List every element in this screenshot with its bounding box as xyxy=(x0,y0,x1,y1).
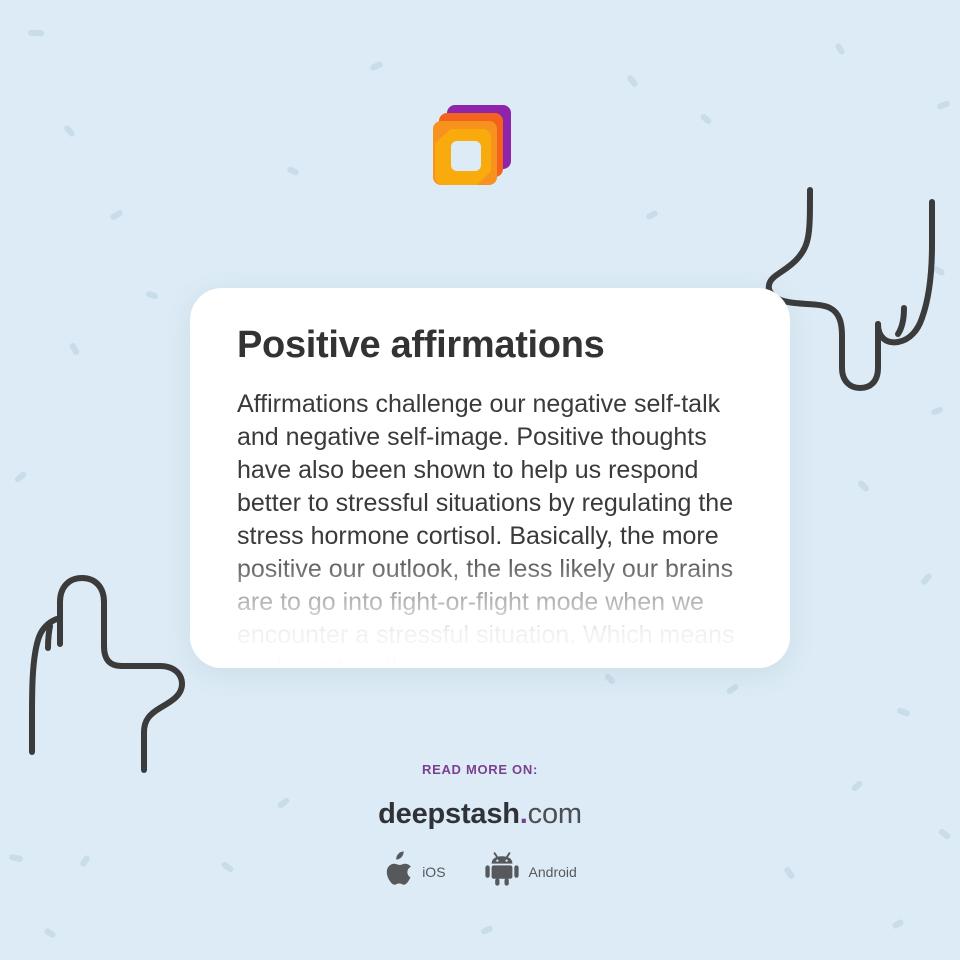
confetti-speck xyxy=(69,342,81,356)
confetti-speck xyxy=(145,290,158,299)
confetti-speck xyxy=(932,265,945,276)
ios-store-badge[interactable]: iOS xyxy=(383,851,445,892)
story-card-content: Positive affirmations Affirmations chall… xyxy=(190,288,790,668)
story-card[interactable]: Positive affirmations Affirmations chall… xyxy=(190,288,790,668)
footer: READ MORE ON: deepstash.com iOS xyxy=(0,762,960,892)
confetti-speck xyxy=(645,210,658,221)
wordmark-tld: com xyxy=(528,798,582,830)
confetti-speck xyxy=(891,918,904,929)
confetti-speck xyxy=(480,925,493,935)
android-store-badge[interactable]: Android xyxy=(484,851,577,892)
confetti-speck xyxy=(699,113,712,125)
android-store-label: Android xyxy=(529,864,577,880)
confetti-speck xyxy=(930,406,943,416)
story-body-text: Affirmations challenge our negative self… xyxy=(237,388,748,668)
android-icon xyxy=(484,851,520,892)
confetti-speck xyxy=(63,124,76,138)
canvas: Positive affirmations Affirmations chall… xyxy=(0,0,960,960)
confetti-speck xyxy=(936,100,950,110)
confetti-speck xyxy=(626,74,639,88)
pointing-up-hand-outline-left-icon xyxy=(18,556,218,791)
page-title: Positive affirmations xyxy=(237,324,748,368)
confetti-speck xyxy=(604,673,617,685)
confetti-speck xyxy=(286,166,299,177)
confetti-speck xyxy=(834,42,845,55)
wordmark-name: deepstash xyxy=(378,798,520,830)
confetti-speck xyxy=(896,707,910,717)
deepstash-wordmark[interactable]: deepstash.com xyxy=(0,798,960,831)
read-more-label: READ MORE ON: xyxy=(0,762,960,777)
store-badges: iOS xyxy=(0,851,960,892)
confetti-speck xyxy=(857,479,870,493)
ios-store-label: iOS xyxy=(422,864,445,880)
confetti-speck xyxy=(14,471,28,484)
confetti-speck xyxy=(43,927,56,939)
confetti-speck xyxy=(725,683,739,695)
confetti-speck xyxy=(109,209,123,221)
confetti-speck xyxy=(28,30,44,37)
confetti-speck xyxy=(920,572,933,586)
deepstash-logo[interactable] xyxy=(427,101,519,199)
wordmark-dot: . xyxy=(520,798,528,830)
apple-icon xyxy=(383,851,413,892)
confetti-speck xyxy=(369,61,383,72)
